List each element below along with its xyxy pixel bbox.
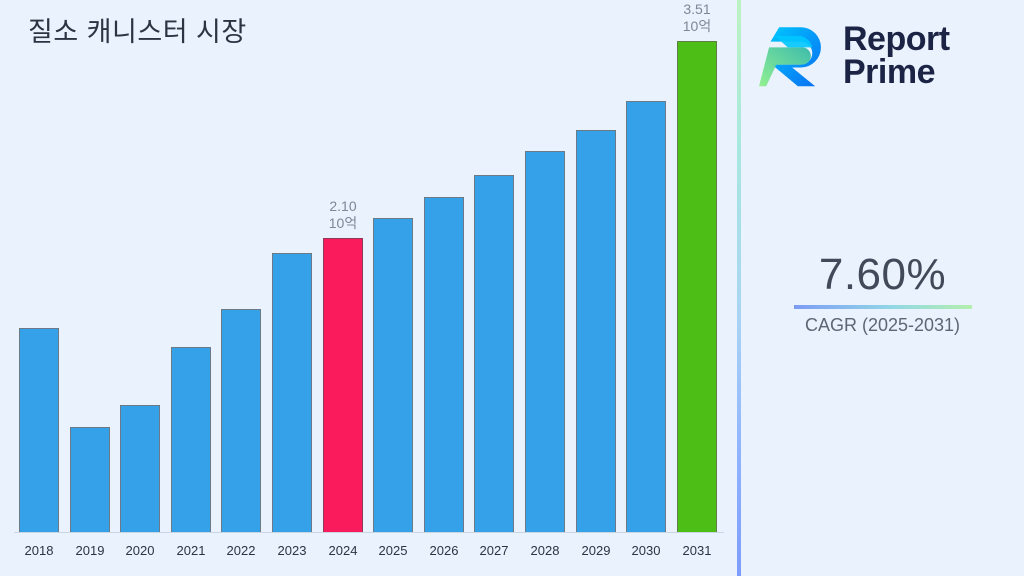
- bar-2027[interactable]: [474, 175, 514, 532]
- bar-series: 2.1010억3.5110억: [0, 0, 738, 532]
- bar-value-unit-2031: 10억: [683, 18, 711, 35]
- chart-panel: 질소 캐니스터 시장 2.1010억3.5110억 20182019202020…: [0, 0, 738, 576]
- bar-2019[interactable]: [70, 427, 110, 532]
- bar-slot: [120, 0, 160, 532]
- bar-value-unit-2024: 10억: [329, 215, 357, 232]
- bar-slot: [373, 0, 413, 532]
- x-tick-2031: 2031: [667, 543, 727, 558]
- plot-area: 2.1010억3.5110억: [0, 0, 738, 533]
- screenshot-root: 질소 캐니스터 시장 2.1010억3.5110억 20182019202020…: [0, 0, 1024, 576]
- bar-slot: [19, 0, 59, 532]
- bar-slot: [525, 0, 565, 532]
- bar-slot: [171, 0, 211, 532]
- bar-slot: [221, 0, 261, 532]
- cagr-caption: CAGR (2025-2031): [741, 315, 1024, 336]
- bar-2021[interactable]: [171, 347, 211, 532]
- bar-slot: 2.1010억: [323, 0, 363, 532]
- bar-2029[interactable]: [576, 130, 616, 532]
- brand-wordmark: Report Prime: [843, 23, 950, 90]
- bar-slot: [424, 0, 464, 532]
- bar-2023[interactable]: [272, 253, 312, 532]
- bar-slot: [272, 0, 312, 532]
- bar-slot: [626, 0, 666, 532]
- bar-2028[interactable]: [525, 151, 565, 532]
- brand-name-line2: Prime: [843, 53, 935, 91]
- bar-2018[interactable]: [19, 328, 59, 532]
- bar-slot: [474, 0, 514, 532]
- bar-slot: [576, 0, 616, 532]
- bar-slot: 3.5110억: [677, 0, 717, 532]
- brand-name-line1: Report: [843, 20, 950, 58]
- bar-2026[interactable]: [424, 197, 464, 532]
- bar-2022[interactable]: [221, 309, 261, 532]
- bar-value-label-2024: 2.1010억: [329, 198, 357, 232]
- brand-logo: Report Prime: [759, 10, 1009, 102]
- bar-value-number-2024: 2.10: [329, 198, 357, 215]
- cagr-block: 7.60% CAGR (2025-2031): [741, 252, 1024, 336]
- cagr-divider-rule: [794, 305, 972, 309]
- bar-2030[interactable]: [626, 101, 666, 532]
- bar-value-label-2031: 3.5110억: [683, 1, 711, 35]
- brand-panel: Report Prime 7.60% CAGR (2025-2031): [741, 0, 1024, 576]
- bar-value-number-2031: 3.51: [683, 1, 711, 18]
- bar-2020[interactable]: [120, 405, 160, 532]
- bar-slot: [70, 0, 110, 532]
- bar-2031[interactable]: [677, 41, 717, 532]
- cagr-value: 7.60%: [741, 252, 1024, 298]
- report-prime-logo-icon: [759, 20, 831, 92]
- bar-2024[interactable]: [323, 238, 363, 532]
- x-axis-tick-labels: 2018201920202021202220232024202520262027…: [0, 534, 738, 576]
- bar-2025[interactable]: [373, 218, 413, 532]
- x-axis-line: [14, 532, 724, 533]
